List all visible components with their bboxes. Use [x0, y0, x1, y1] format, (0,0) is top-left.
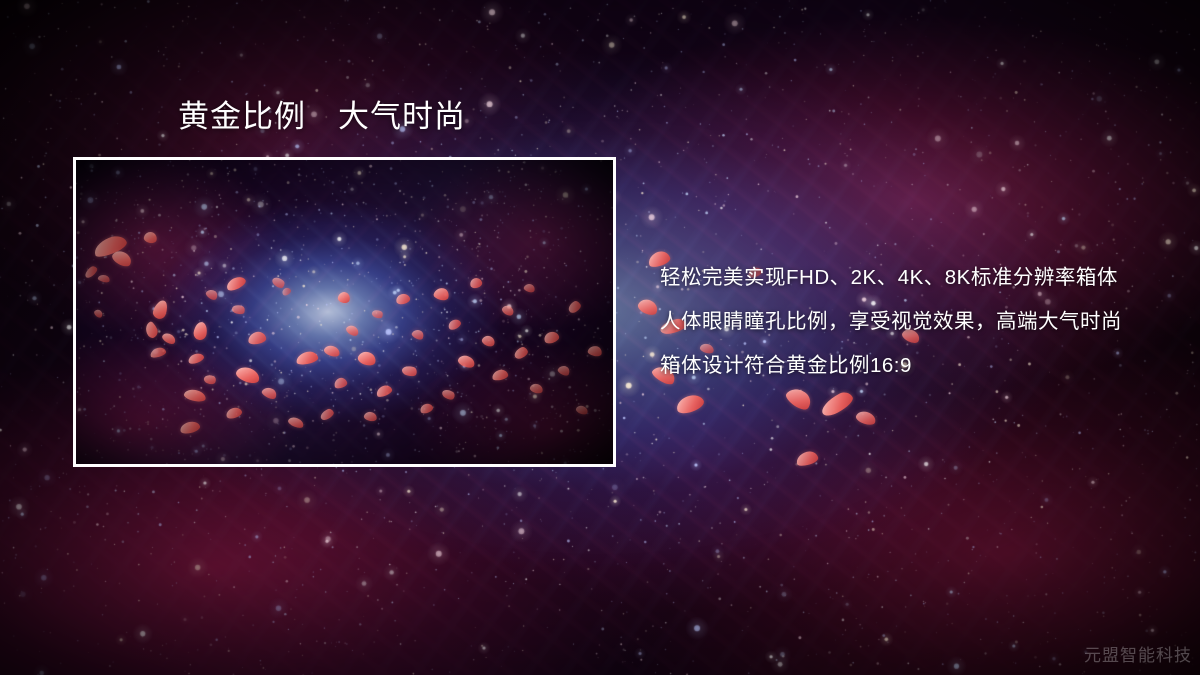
body-line-3: 箱体设计符合黄金比例16:9	[660, 344, 1180, 388]
slide-canvas: 黄金比例 大气时尚 轻松完美实现FHD、2K、4K、8K标准分辨率箱体 人体眼睛…	[0, 0, 1200, 675]
watermark-text: 元盟智能科技	[1084, 641, 1192, 666]
flower-petal	[674, 392, 706, 417]
framed-image-vignette	[76, 160, 613, 464]
flower-petal	[795, 449, 820, 468]
body-line-1: 轻松完美实现FHD、2K、4K、8K标准分辨率箱体	[660, 256, 1180, 300]
flower-petal	[818, 389, 856, 419]
body-copy-block: 轻松完美实现FHD、2K、4K、8K标准分辨率箱体 人体眼睛瞳孔比例，享受视觉效…	[660, 256, 1180, 388]
flower-petal	[636, 297, 660, 318]
flower-petal	[855, 409, 878, 427]
body-line-2: 人体眼睛瞳孔比例，享受视觉效果，高端大气时尚	[660, 300, 1180, 344]
framed-product-image	[73, 157, 616, 467]
page-title: 黄金比例 大气时尚	[178, 100, 466, 134]
flower-petal	[783, 384, 814, 413]
